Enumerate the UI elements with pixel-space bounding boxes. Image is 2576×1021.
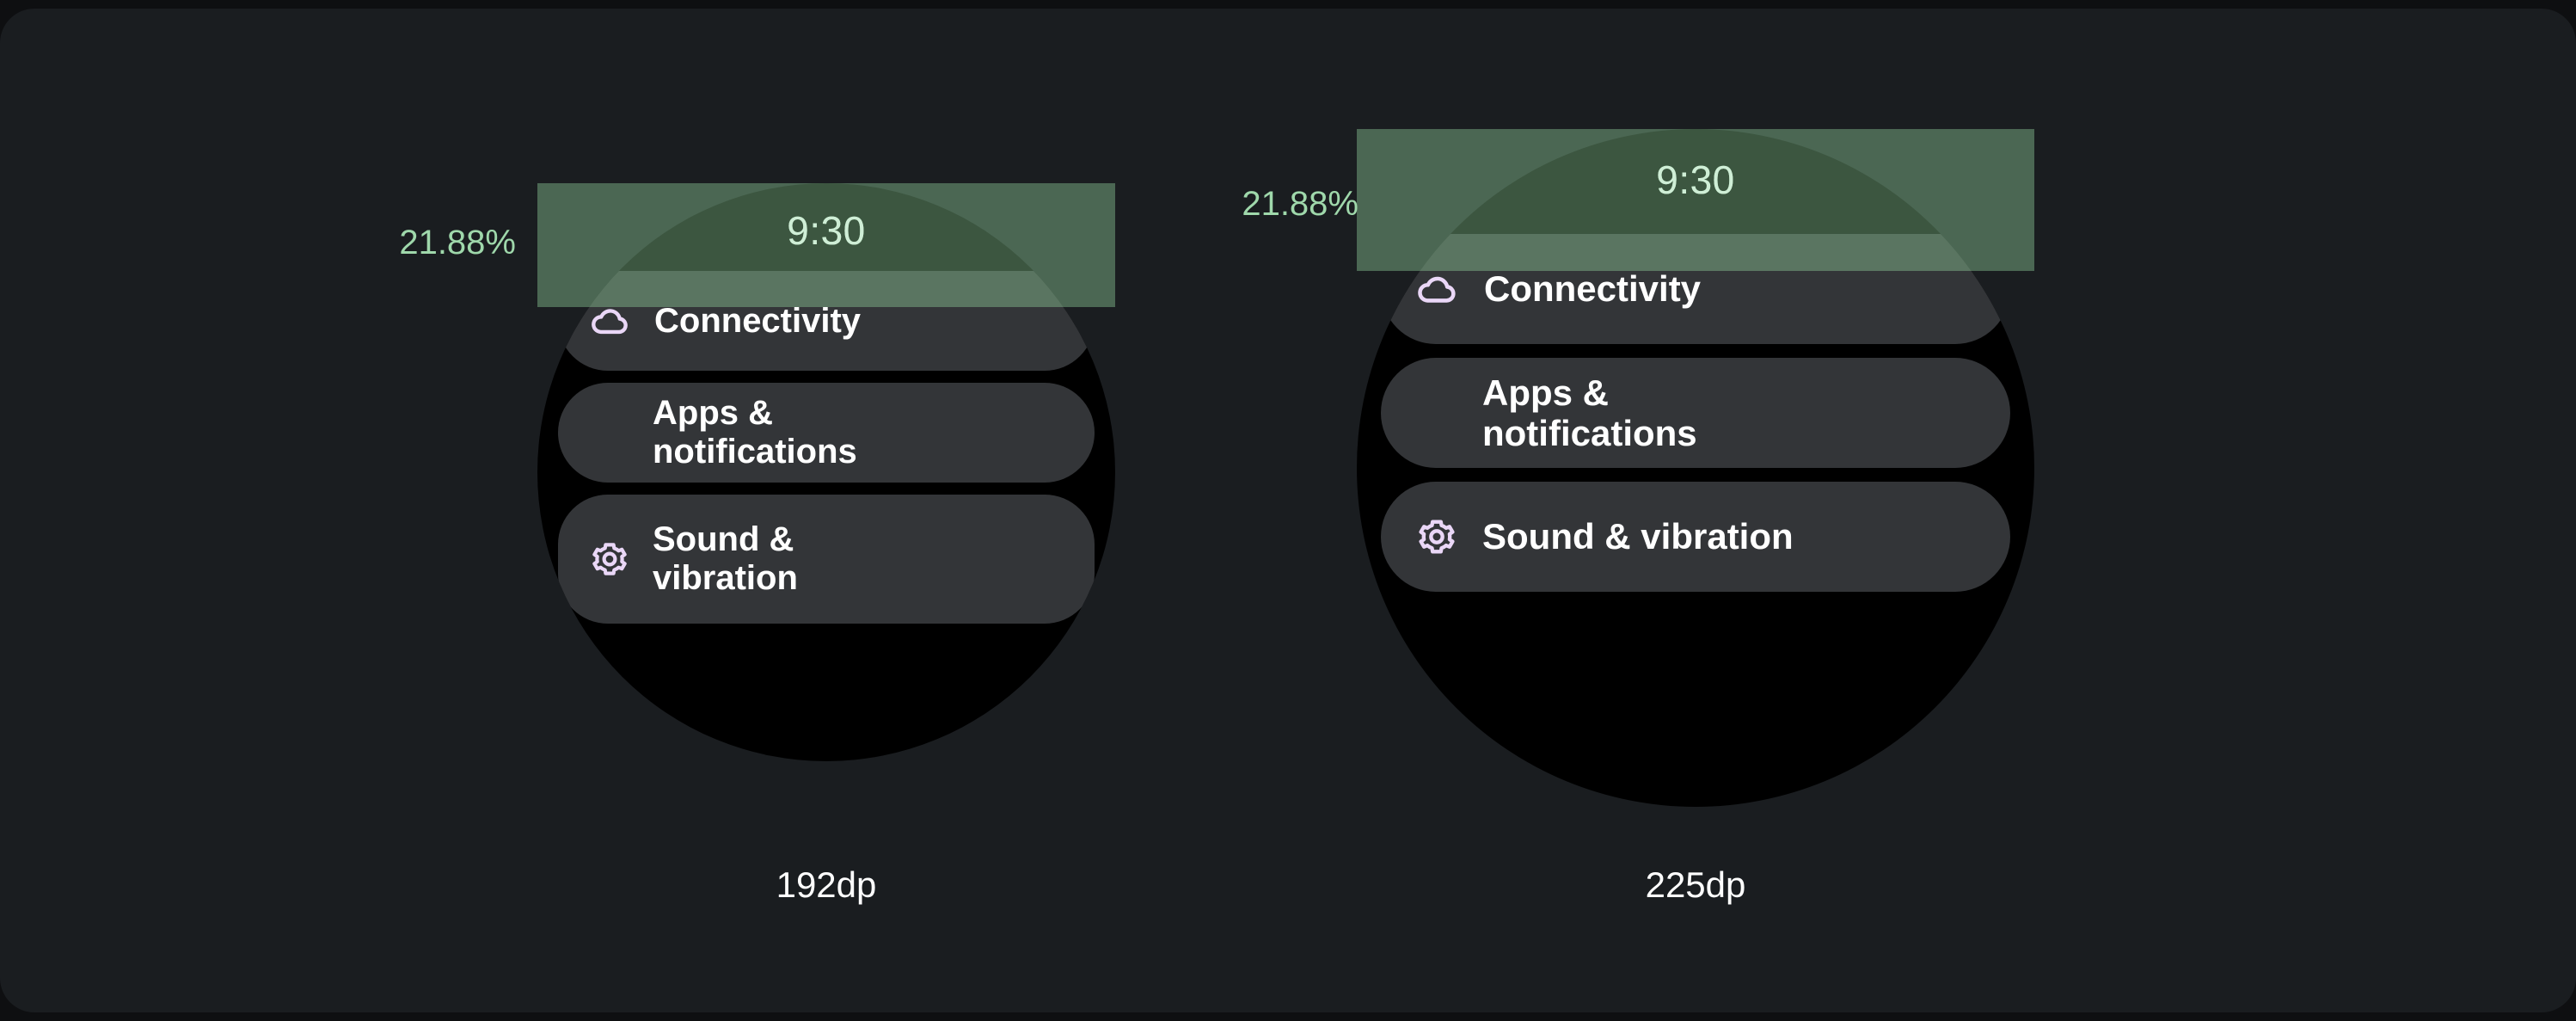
list-item-label: Connectivity	[1484, 268, 1701, 309]
status-bar-percent-label-225: 21.88%	[1187, 185, 1359, 224]
list-item-sound-vibration-192[interactable]: Sound & vibration	[558, 495, 1095, 624]
size-caption-225dp: 225dp	[1357, 864, 2034, 906]
settings-list-192: 9:30 Connectivity	[537, 183, 1115, 624]
list-item-label: Sound & vibration	[1482, 516, 1794, 557]
watch-preview-192dp: 21.88% 9:30 Connectivity	[0, 9, 1204, 1012]
list-item-label: Apps & notifications	[1482, 372, 1740, 453]
gear-icon	[1415, 515, 1458, 558]
list-item-connectivity-192[interactable]: Connectivity	[558, 271, 1095, 371]
screenshot-root: 21.88% 9:30 Connectivity	[0, 0, 2576, 1021]
settings-list-225: 9:30 Connectivity	[1357, 129, 2034, 592]
list-item-label: Apps & notifications	[653, 394, 868, 471]
cloud-icon	[589, 299, 632, 342]
list-item-sound-vibration-225[interactable]: Sound & vibration	[1381, 482, 2010, 592]
watch-screen-192: 9:30 Connectivity	[537, 183, 1115, 761]
size-caption-192dp: 192dp	[537, 864, 1115, 906]
watch-preview-225dp: 21.88% 9:30 Connectivity	[1204, 9, 2576, 1012]
cloud-icon	[1415, 267, 1460, 311]
list-item-label: Connectivity	[654, 302, 861, 341]
list-item-connectivity-225[interactable]: Connectivity	[1381, 234, 2010, 344]
gear-icon	[589, 538, 630, 580]
preview-panel: 21.88% 9:30 Connectivity	[0, 9, 2576, 1012]
status-bar-percent-label-192: 21.88%	[344, 224, 516, 262]
list-item-label: Sound & vibration	[653, 520, 859, 598]
apps-grid-icon	[1415, 391, 1458, 434]
list-item-apps-notifications-192[interactable]: Apps & notifications	[558, 383, 1095, 483]
list-item-apps-notifications-225[interactable]: Apps & notifications	[1381, 358, 2010, 468]
watch-screen-225: 9:30 Connectivity	[1357, 129, 2034, 807]
clock-time-225: 9:30	[1357, 157, 2034, 206]
apps-grid-icon	[589, 412, 630, 453]
clock-time-192: 9:30	[537, 207, 1115, 255]
